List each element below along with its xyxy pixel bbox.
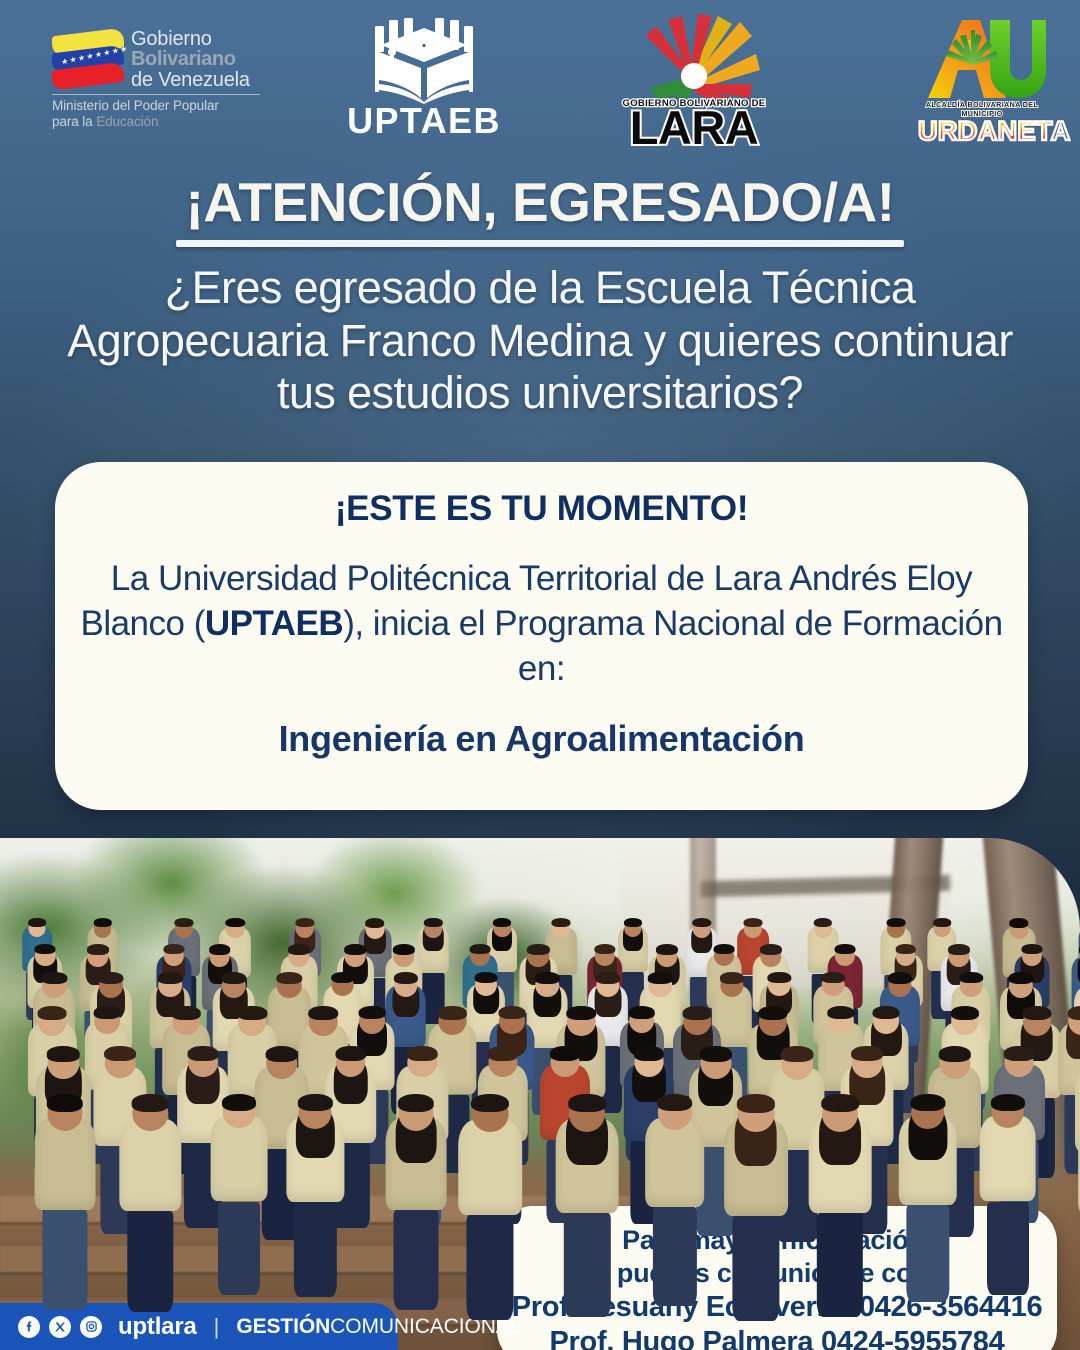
x-twitter-icon[interactable] <box>49 1316 71 1338</box>
person-hair-top <box>948 944 970 955</box>
person-hair-top <box>424 918 442 927</box>
card-heading: ¡ESTE ES TU MOMENTO! <box>55 489 1028 529</box>
person-hair-top <box>175 918 194 927</box>
person-torso <box>211 1116 268 1201</box>
lara-sub-label: GOBIERNO BOLIVARIANO DE <box>614 98 774 109</box>
person-hair-top <box>628 1006 655 1019</box>
person-hair-top <box>335 1046 366 1061</box>
urdaneta-label: URDANETA <box>918 118 1046 145</box>
person-hair-top <box>527 944 549 955</box>
person-hair-top <box>47 1094 84 1112</box>
venezuela-flag-icon: ★★★★★★★★ <box>52 30 124 88</box>
person-legs <box>653 1207 697 1306</box>
person-hair-top <box>594 944 615 954</box>
person-hair-top <box>551 918 570 927</box>
person-hair-top <box>265 1046 298 1062</box>
urdaneta-au-monogram-icon <box>918 18 1046 100</box>
person-hair-top <box>648 972 673 984</box>
person-hair-top <box>743 918 762 927</box>
person-hair-top <box>827 1006 854 1019</box>
person-hair-top <box>714 944 735 954</box>
person-hair-top <box>951 1006 979 1020</box>
logo-divider <box>52 94 260 95</box>
person-hair-top <box>93 1006 120 1019</box>
person-legs <box>128 1211 173 1312</box>
person-hair-top <box>768 972 791 983</box>
uptaeb-logo: UPTAEB <box>334 16 514 146</box>
person-hair-top <box>760 944 782 955</box>
lara-label: LARA <box>614 105 774 150</box>
person-hair-top <box>87 944 109 955</box>
person-hair-top <box>158 972 183 984</box>
person-hair-top <box>28 918 46 927</box>
person-hair-top <box>657 1094 693 1111</box>
program-name: Ingeniería en Agroalimentación <box>55 718 1028 760</box>
person-hair-top <box>172 1006 201 1020</box>
uptaeb-label: UPTAEB <box>334 100 514 142</box>
person-hair-top <box>656 944 678 955</box>
poster-canvas: ★★★★★★★★ Gobierno Bolivariano de Venezue… <box>0 0 1080 1350</box>
person-hair-top <box>1008 972 1033 984</box>
lara-government-logo: GOBIERNO BOLIVARIANO DE LARA <box>614 14 774 146</box>
person-hair-top <box>493 918 511 927</box>
person-hair-top <box>550 1046 580 1061</box>
person-hair-top <box>959 972 983 983</box>
social-divider: | <box>214 1314 220 1340</box>
title-underline <box>176 240 904 247</box>
graduation-book-icon <box>334 16 514 104</box>
page-title: ¡ATENCIÓN, EGRESADO/A! <box>0 170 1080 234</box>
person-torso <box>34 1118 95 1209</box>
person-hair-top <box>475 972 498 983</box>
facebook-icon[interactable] <box>18 1316 40 1338</box>
person-hair-top <box>1022 1006 1051 1020</box>
person-hair-top <box>683 1006 712 1020</box>
person-hair-top <box>910 1094 945 1111</box>
person-hair-top <box>358 1006 385 1019</box>
person-legs <box>466 1215 513 1320</box>
person-hair-top <box>781 1046 814 1062</box>
gov-line-2: Bolivariano <box>131 49 250 69</box>
urdaneta-mayoralty-logo: ALCALDÍA BOLIVARIANA DEL MUNICIPIO URDAN… <box>918 18 1046 146</box>
person-legs <box>732 1216 779 1322</box>
person-hair-top <box>308 1006 338 1020</box>
card-body-part2: ), inicia el Programa Nacional de Formac… <box>343 604 1002 688</box>
person-legs <box>218 1202 260 1296</box>
gov-line-1: Gobierno <box>131 29 250 49</box>
person-hair-top <box>1068 1006 1080 1020</box>
person-hair-top <box>886 918 905 927</box>
person-hair-top <box>1004 1046 1034 1061</box>
person-hair-top <box>392 944 414 955</box>
person-hair-top <box>933 918 951 927</box>
person-hair-top <box>99 972 124 984</box>
person-hair-top <box>365 918 385 928</box>
person-hair-top <box>488 1046 518 1061</box>
person-hair-top <box>209 944 231 955</box>
person-hair-top <box>331 972 355 983</box>
person-hair-top <box>221 972 247 984</box>
person-hair-top <box>720 972 744 984</box>
person-hair-top <box>163 944 184 954</box>
person-hair-top <box>222 1094 256 1111</box>
person-hair-top <box>393 972 417 984</box>
person-hair-top <box>225 918 244 927</box>
person-legs <box>294 1202 336 1297</box>
person-hair-top <box>438 1006 466 1020</box>
person-legs <box>393 1210 438 1311</box>
person-hair-top <box>834 944 855 954</box>
ministry-line-1: Ministerio del Poder Popular <box>52 98 264 114</box>
person-hair-top <box>991 1094 1025 1111</box>
person-hair-top <box>277 972 302 984</box>
card-body: La Universidad Politécnica Territorial d… <box>55 557 1028 691</box>
person-hair-top <box>821 1094 859 1112</box>
person-hair-top <box>471 1094 509 1112</box>
person-legs <box>42 1210 87 1311</box>
person-hair-top <box>498 1006 525 1019</box>
person-hair-top <box>407 1046 438 1061</box>
person-torso <box>979 1116 1036 1201</box>
person-hair-top <box>295 918 314 927</box>
person-torso <box>120 1119 181 1211</box>
person-hair-top <box>288 944 310 955</box>
person-hair-top <box>35 944 56 954</box>
person-hair-top <box>132 1094 169 1112</box>
person-hair-top <box>938 1046 970 1062</box>
person-hair-top <box>470 944 491 954</box>
person-hair-top <box>238 1006 267 1020</box>
person-hair-top <box>1009 918 1029 928</box>
social-handle[interactable]: uptlara <box>118 1313 197 1341</box>
person-hair-top <box>187 1046 218 1061</box>
person-torso <box>645 1118 705 1208</box>
person-hair-top <box>634 1046 664 1061</box>
person-hair-top <box>759 1006 788 1020</box>
person-hair-top <box>737 1094 775 1113</box>
person-hair-top <box>1022 944 1043 954</box>
person-hair-top <box>895 944 916 954</box>
person-legs <box>817 1213 863 1317</box>
contact-line-4: Prof. Hugo Palmera 0424-5955784 <box>497 1325 1057 1350</box>
person-legs <box>987 1202 1029 1296</box>
person-hair-top <box>398 1094 435 1112</box>
person-hair-top <box>888 972 912 984</box>
person-hair-top <box>38 1006 67 1020</box>
person-hair-top <box>535 972 560 984</box>
instagram-icon[interactable] <box>80 1316 102 1338</box>
person-hair-top <box>42 972 67 984</box>
ministry-highlight: Educación <box>96 114 158 129</box>
person-hair-top <box>821 972 845 983</box>
person-hair-top <box>596 972 620 984</box>
person-hair-top <box>47 1046 80 1062</box>
ministry-prefix: para la <box>52 114 96 129</box>
lara-sunburst-icon <box>614 14 774 98</box>
gov-line-3: de Venezuela <box>131 70 250 90</box>
card-body-acronym: UPTAEB <box>205 604 343 643</box>
person-legs <box>906 1205 949 1302</box>
person-hair-top <box>93 918 112 927</box>
social-label-bold: GESTIÓN <box>236 1315 330 1338</box>
person-hair-top <box>814 918 832 927</box>
person-legs <box>564 1213 610 1317</box>
intro-question: ¿Eres egresado de la Escuela Técnica Agr… <box>62 262 1018 420</box>
person-hair-top <box>624 918 642 927</box>
person-hair-top <box>851 1046 883 1061</box>
person-hair-top <box>873 1006 900 1019</box>
header-logo-row: ★★★★★★★★ Gobierno Bolivariano de Venezue… <box>0 0 1080 160</box>
person-hair-top <box>692 918 711 927</box>
person-hair-top <box>298 1094 332 1111</box>
person-hair-top <box>104 1046 136 1061</box>
person-torso <box>458 1120 522 1215</box>
ministry-line-2: para la Educación <box>52 114 264 130</box>
venezuela-government-logo: ★★★★★★★★ Gobierno Bolivariano de Venezue… <box>52 28 264 140</box>
person-hair-top <box>568 1094 606 1112</box>
person-hair-top <box>699 1046 731 1062</box>
person-hair-top <box>345 944 367 955</box>
person-hair-top <box>567 1006 597 1020</box>
announcement-card: ¡ESTE ES TU MOMENTO! La Universidad Poli… <box>55 462 1028 810</box>
